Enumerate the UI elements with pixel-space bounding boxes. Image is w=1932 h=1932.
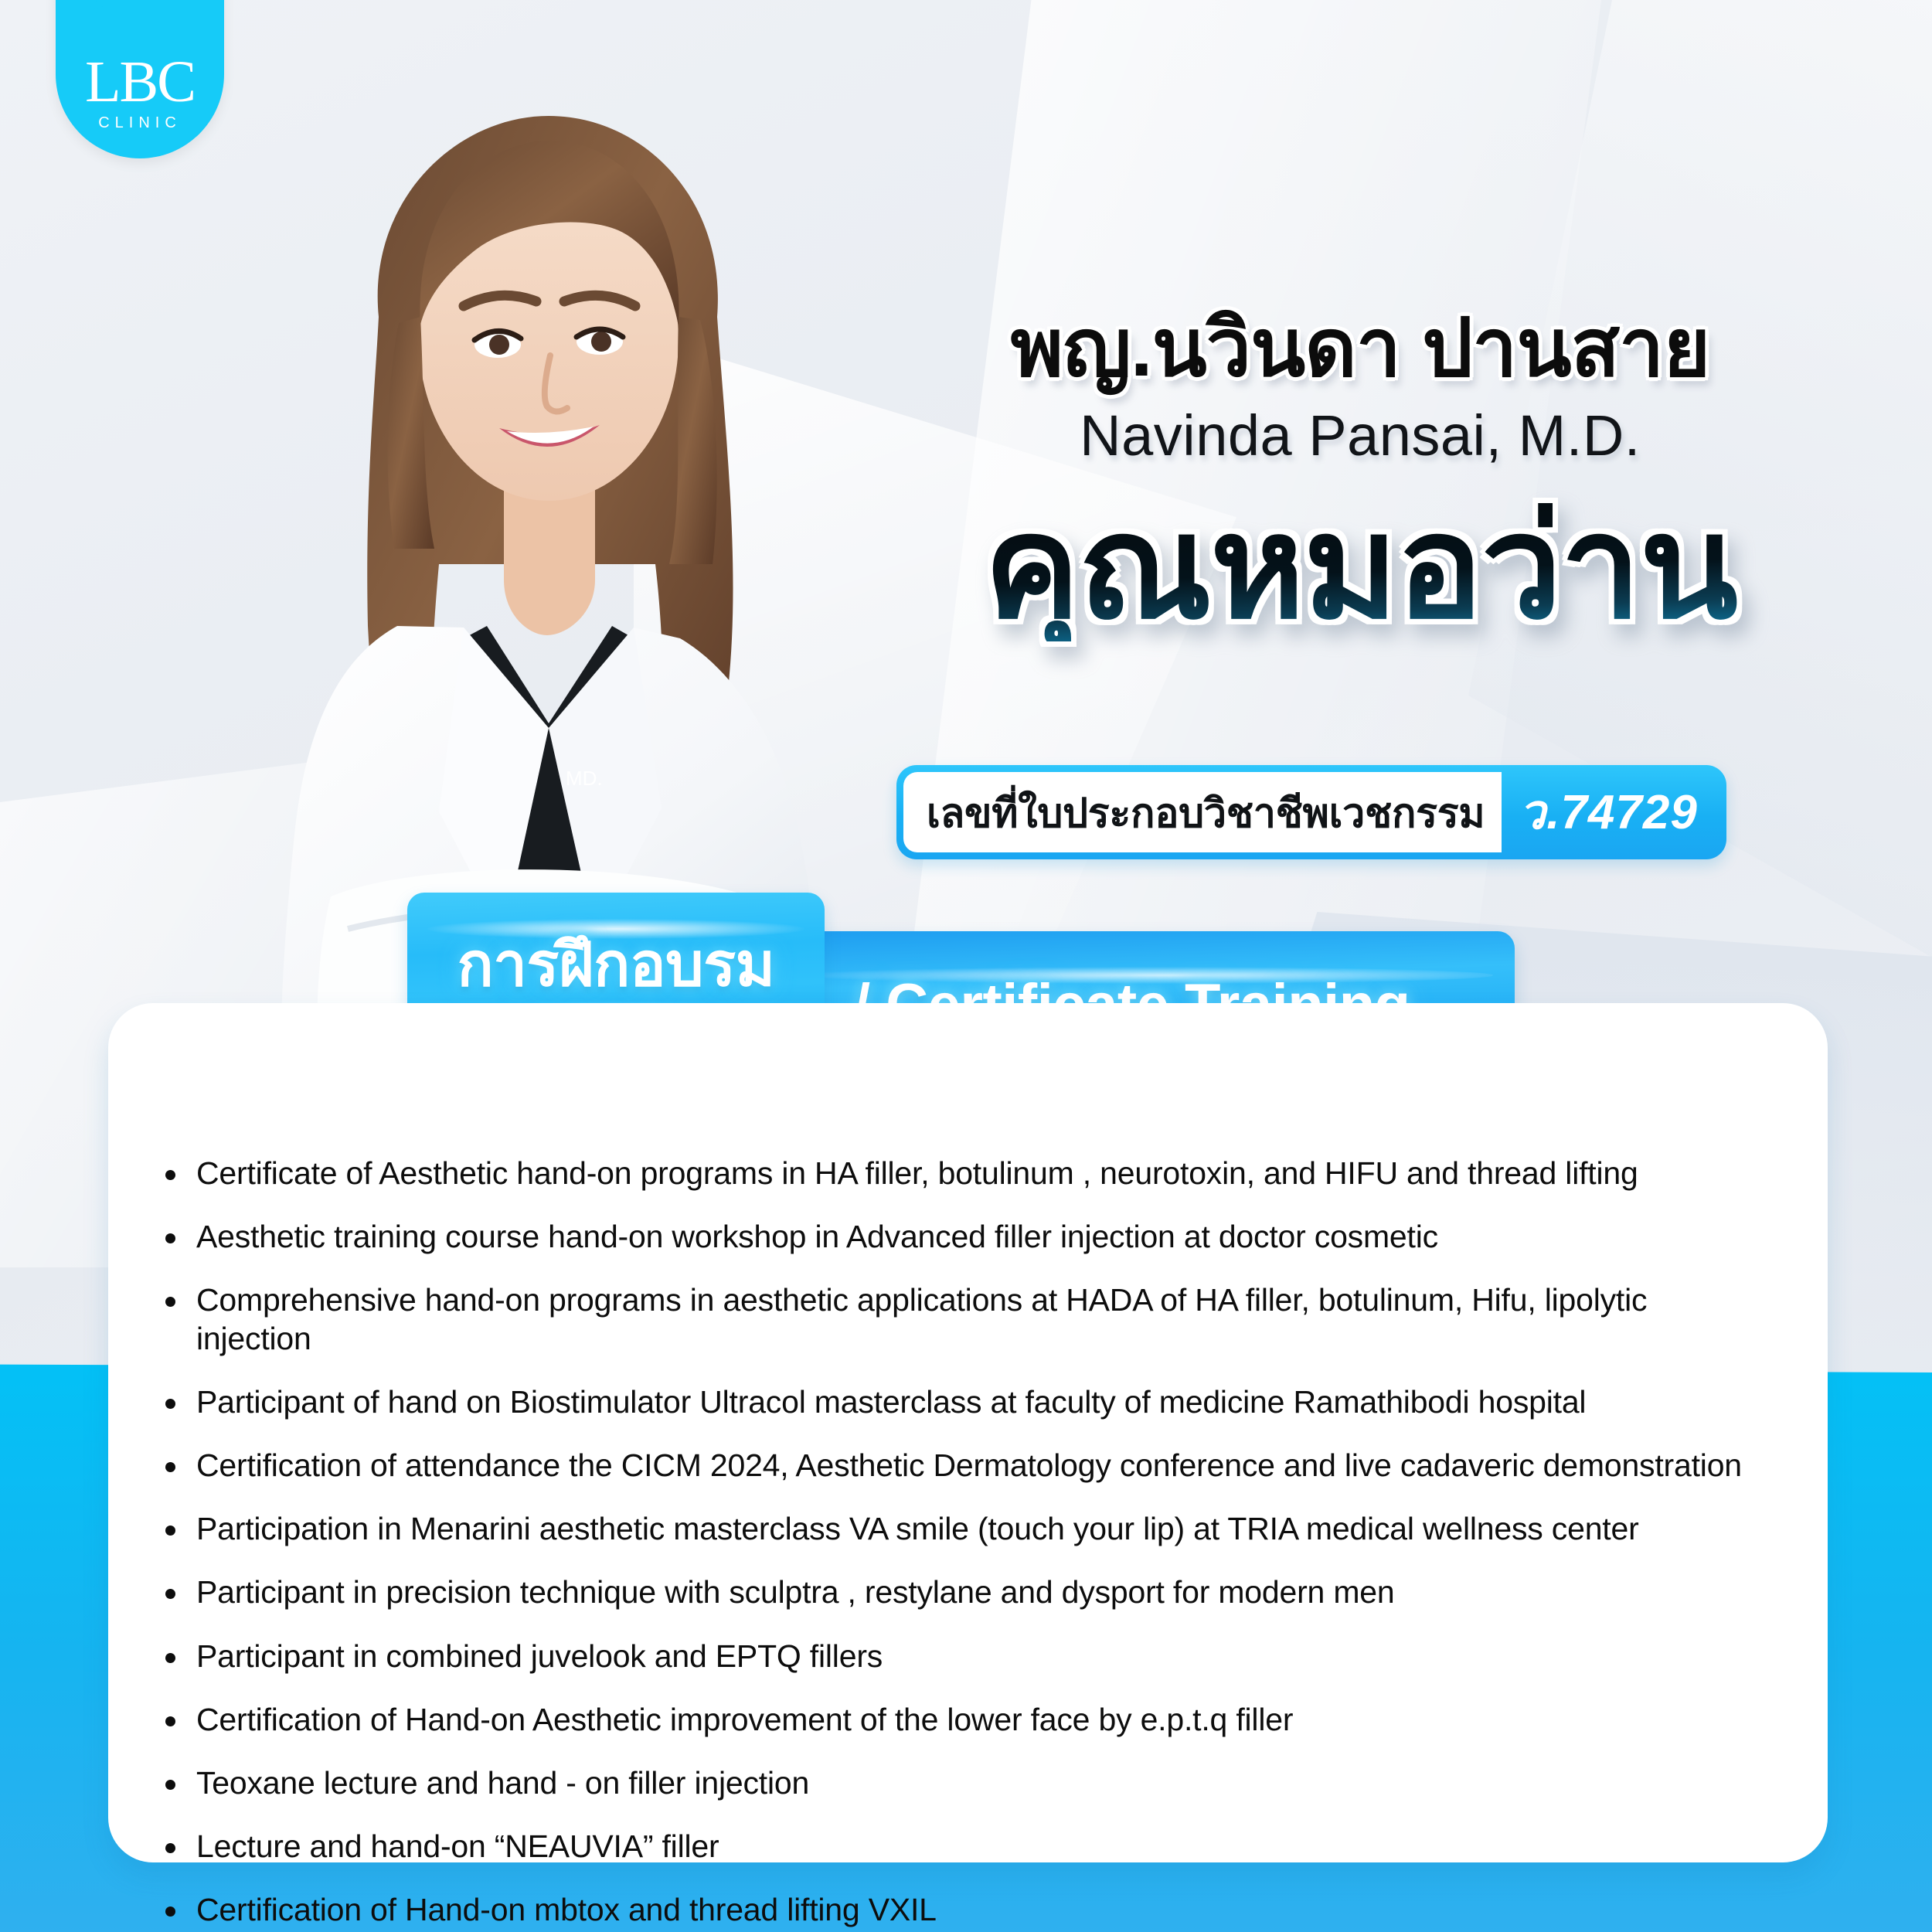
certificate-item: Participant in precision technique with … [155,1573,1758,1611]
doctor-name-block: พญ.นวินดา ปานสาย Navinda Pansai, M.D. คุ… [850,305,1870,641]
doctor-profile-poster: LBC CLINIC [0,0,1932,1932]
sparkle-icon [90,0,103,13]
section-title-thai: การฝึกอบรม [457,917,774,1012]
logo-subtitle: CLINIC [98,114,182,132]
license-number: ว.74729 [1502,772,1719,852]
certificate-item: Comprehensive hand-on programs in aesthe… [155,1281,1758,1357]
certificate-item: Lecture and hand-on “NEAUVIA” filler [155,1828,1758,1866]
medical-license-badge: เลขที่ใบประกอบวิชาชีพเวชกรรม ว.74729 [896,765,1726,859]
doctor-nickname: คุณหมอว่าน [850,495,1870,641]
certificate-card: Certificate of Aesthetic hand-on program… [108,1003,1828,1862]
certificate-item: Participation in Menarini aesthetic mast… [155,1510,1758,1548]
certificate-item: Certificate of Aesthetic hand-on program… [155,1155,1758,1192]
doctor-name-english: Navinda Pansai, M.D. [850,403,1870,468]
logo-wordmark: LBC [85,56,195,110]
certificate-item: Certification of attendance the CICM 202… [155,1447,1758,1485]
doctor-name-thai: พญ.นวินดา ปานสาย [850,305,1870,392]
certificate-item: Certification of Hand-on Aesthetic impro… [155,1701,1758,1739]
coat-embroidery-text: MD. [566,767,603,790]
certificate-list: Certificate of Aesthetic hand-on program… [108,1003,1828,1929]
certificate-item: Teoxane lecture and hand - on filler inj… [155,1764,1758,1802]
iris-left [489,335,509,355]
certificate-item: Participant in combined juvelook and EPT… [155,1638,1758,1675]
license-label: เลขที่ใบประกอบวิชาชีพเวชกรรม [903,772,1502,852]
certificate-item: Certification of Hand-on mbtox and threa… [155,1891,1758,1929]
iris-right [591,332,611,352]
certificate-item: Aesthetic training course hand-on worksh… [155,1218,1758,1256]
certificate-item: Participant of hand on Biostimulator Ult… [155,1383,1758,1421]
